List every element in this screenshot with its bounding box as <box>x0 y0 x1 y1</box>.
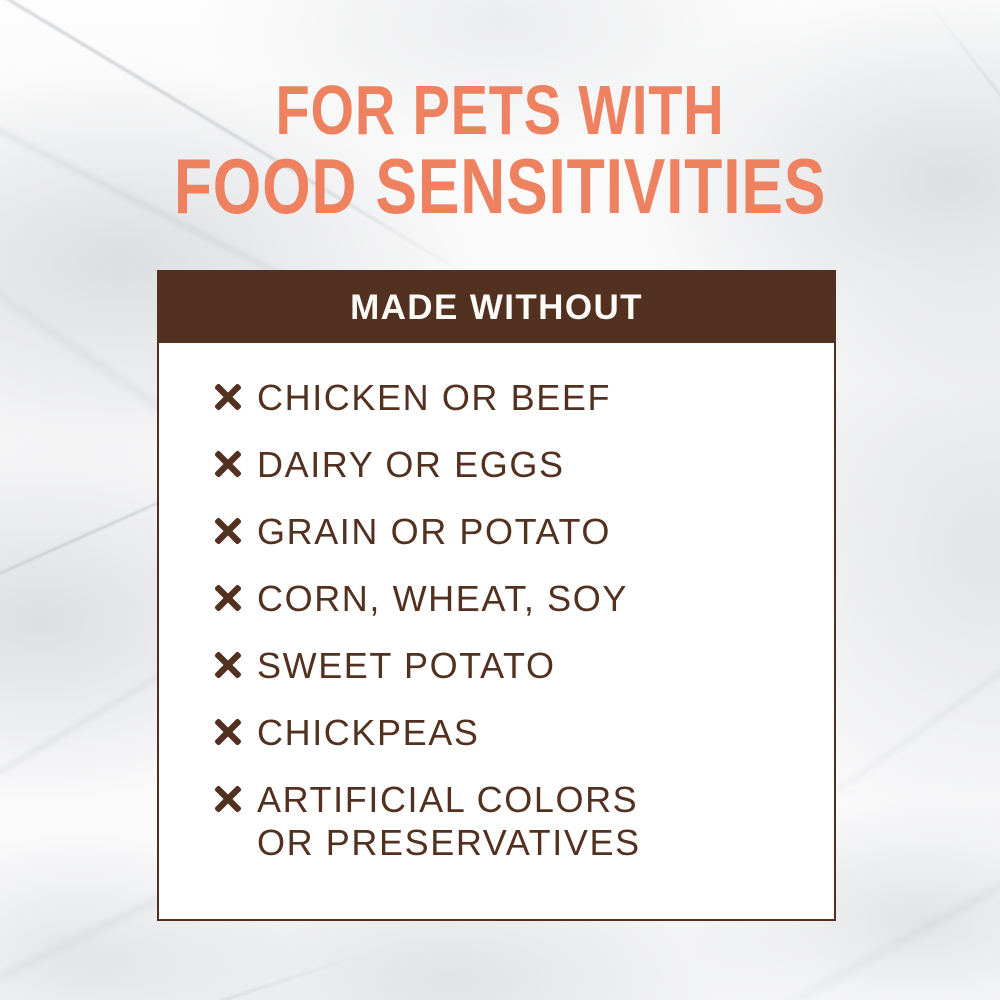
list-item-label: CHICKPEAS <box>257 711 479 754</box>
list-item-label: CORN, WHEAT, SOY <box>257 577 628 620</box>
list-item: CORN, WHEAT, SOY <box>213 577 834 620</box>
list-item-label: GRAIN OR POTATO <box>257 510 611 553</box>
list-item: DAIRY OR EGGS <box>213 443 834 486</box>
list-item-label: DAIRY OR EGGS <box>257 443 565 486</box>
list-item-label: SWEET POTATO <box>257 644 556 687</box>
x-mark-icon <box>213 784 243 814</box>
list-item: SWEET POTATO <box>213 644 834 687</box>
x-mark-icon <box>213 516 243 546</box>
card-header-band: MADE WITHOUT <box>159 272 834 343</box>
headline: FOR PETS WITH FOOD SENSITIVITIES <box>0 74 1000 226</box>
list-item-label: ARTIFICIAL COLORS OR PRESERVATIVES <box>257 778 641 864</box>
card-body: CHICKEN OR BEEFDAIRY OR EGGSGRAIN OR POT… <box>159 343 834 864</box>
headline-line-2: FOOD SENSITIVITIES <box>100 146 900 226</box>
x-mark-icon <box>213 583 243 613</box>
list-item-label: CHICKEN OR BEEF <box>257 376 611 419</box>
product-claims-poster: FOR PETS WITH FOOD SENSITIVITIES MADE WI… <box>0 0 1000 1000</box>
headline-line-1: FOR PETS WITH <box>100 74 900 146</box>
x-mark-icon <box>213 449 243 479</box>
x-mark-icon <box>213 650 243 680</box>
list-item: GRAIN OR POTATO <box>213 510 834 553</box>
list-item: CHICKPEAS <box>213 711 834 754</box>
card-header-title: MADE WITHOUT <box>350 288 643 328</box>
excluded-ingredients-list: CHICKEN OR BEEFDAIRY OR EGGSGRAIN OR POT… <box>213 376 834 864</box>
x-mark-icon <box>213 382 243 412</box>
made-without-card: MADE WITHOUT CHICKEN OR BEEFDAIRY OR EGG… <box>157 270 836 921</box>
list-item: ARTIFICIAL COLORS OR PRESERVATIVES <box>213 778 834 864</box>
list-item: CHICKEN OR BEEF <box>213 376 834 419</box>
x-mark-icon <box>213 717 243 747</box>
